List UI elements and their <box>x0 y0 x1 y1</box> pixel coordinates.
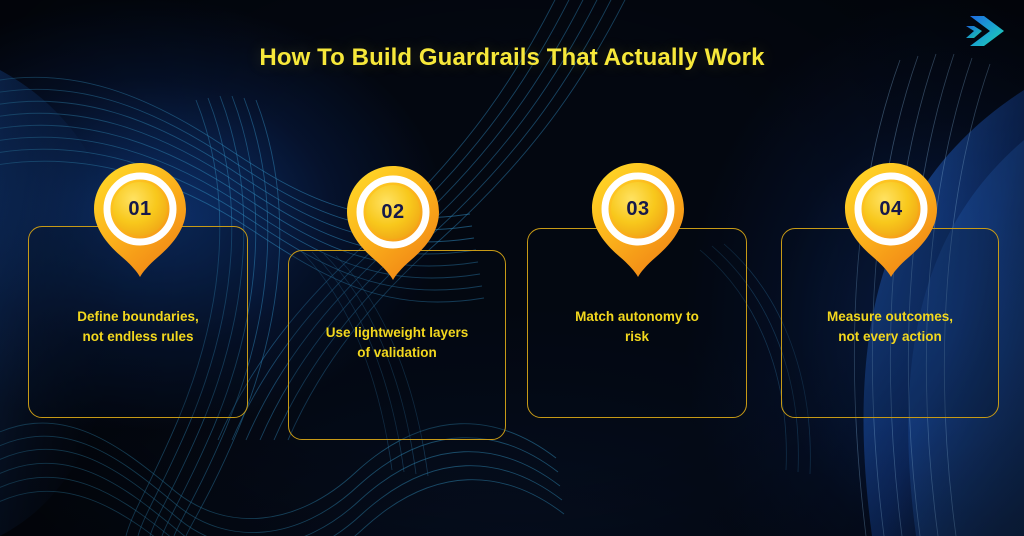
step-pin-01[interactable]: 01 <box>92 161 188 279</box>
step-pin-03[interactable]: 03 <box>590 161 686 279</box>
step-pin-02[interactable]: 02 <box>345 164 441 282</box>
step-card-02-label: Use lightweight layers of validation <box>299 323 495 362</box>
infographic-canvas: How To Build Guardrails That Actually Wo… <box>0 0 1024 536</box>
step-pin-04[interactable]: 04 <box>843 161 939 279</box>
step-pin-01-number: 01 <box>92 161 188 257</box>
page-title: How To Build Guardrails That Actually Wo… <box>0 44 1024 72</box>
step-card-01-label: Define boundaries, not endless rules <box>39 307 237 346</box>
step-pin-03-number: 03 <box>590 161 686 257</box>
step-card-03-label: Match autonomy to risk <box>538 307 736 346</box>
step-card-04-label: Measure outcomes, not every action <box>792 307 988 346</box>
step-pin-04-number: 04 <box>843 161 939 257</box>
step-pin-02-number: 02 <box>345 164 441 260</box>
